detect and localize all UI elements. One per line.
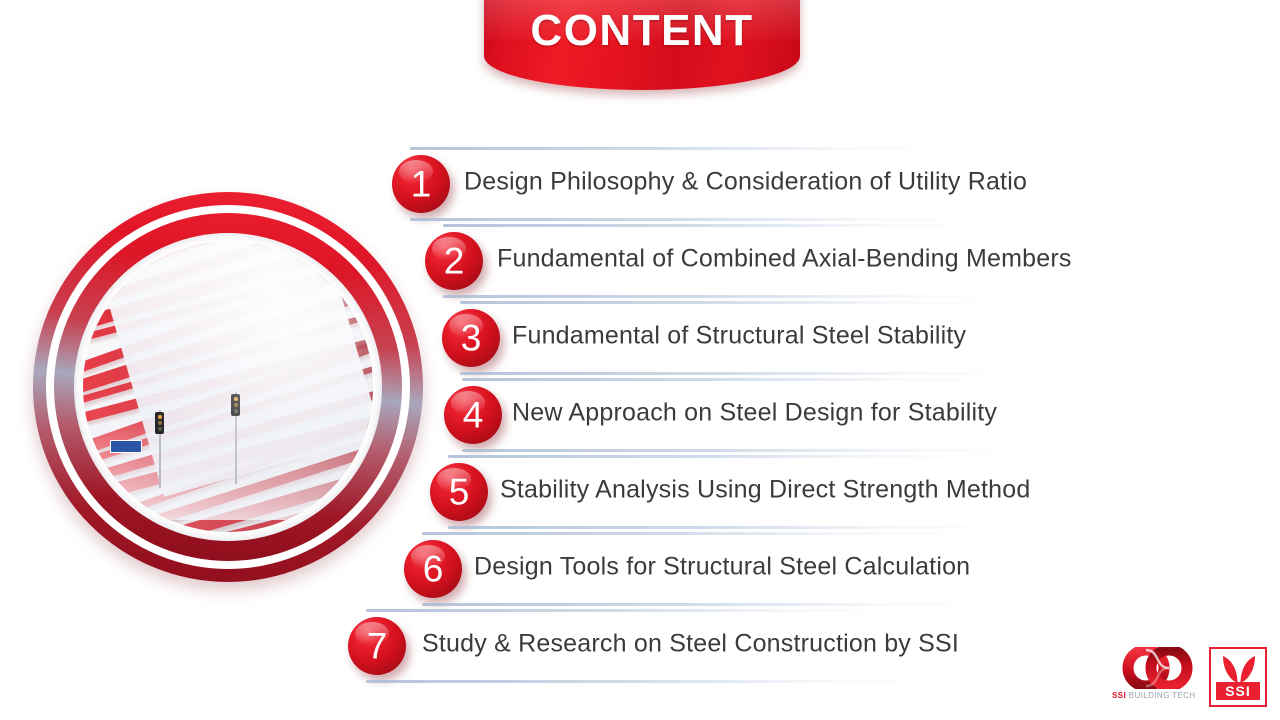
ssi-swirl-icon xyxy=(1122,647,1194,689)
item-number-badge[interactable]: 1 xyxy=(392,155,450,213)
item-number: 1 xyxy=(392,166,450,203)
item-number: 6 xyxy=(404,551,462,588)
logo-building-tech-text: SSI BUILDING TECH xyxy=(1112,691,1204,700)
list-item[interactable]: 3 Fundamental of Structural Steel Stabil… xyxy=(442,297,1102,375)
item-number-badge[interactable]: 6 xyxy=(404,540,462,598)
list-item[interactable]: 1 Design Philosophy & Consideration of U… xyxy=(392,143,1052,221)
logo-area: SSI BUILDING TECH SSI xyxy=(1112,645,1272,715)
item-number: 5 xyxy=(430,474,488,511)
item-number: 7 xyxy=(348,628,406,665)
content-list: 1 Design Philosophy & Consideration of U… xyxy=(0,0,1280,720)
item-label: Study & Research on Steel Construction b… xyxy=(422,630,959,659)
item-number-badge[interactable]: 4 xyxy=(444,386,502,444)
item-number: 4 xyxy=(444,397,502,434)
item-number-badge[interactable]: 3 xyxy=(442,309,500,367)
item-label: Design Philosophy & Consideration of Uti… xyxy=(464,168,1027,197)
item-label: New Approach on Steel Design for Stabili… xyxy=(512,399,997,428)
item-label: Fundamental of Combined Axial-Bending Me… xyxy=(497,245,1072,274)
item-divider-top xyxy=(410,147,940,150)
item-number: 2 xyxy=(425,243,483,280)
logo-ssi-boxed: SSI xyxy=(1209,647,1267,707)
list-item[interactable]: 6 Design Tools for Structural Steel Calc… xyxy=(404,528,1064,606)
list-item[interactable]: 7 Study & Research on Steel Construction… xyxy=(348,605,1008,683)
item-divider-top xyxy=(422,532,952,535)
ssi-leaf-icon xyxy=(1220,654,1258,684)
item-divider-top xyxy=(448,455,978,458)
item-number-badge[interactable]: 7 xyxy=(348,617,406,675)
list-item[interactable]: 2 Fundamental of Combined Axial-Bending … xyxy=(425,220,1085,298)
item-label: Stability Analysis Using Direct Strength… xyxy=(500,476,1030,505)
item-divider-top xyxy=(443,224,973,227)
item-label: Fundamental of Structural Steel Stabilit… xyxy=(512,322,966,351)
list-item[interactable]: 4 New Approach on Steel Design for Stabi… xyxy=(444,374,1104,452)
item-divider-bottom xyxy=(366,680,926,683)
item-number-badge[interactable]: 2 xyxy=(425,232,483,290)
item-label: Design Tools for Structural Steel Calcul… xyxy=(474,553,970,582)
logo-brand-suffix: BUILDING TECH xyxy=(1126,691,1195,700)
item-number: 3 xyxy=(442,320,500,357)
item-divider-top xyxy=(462,378,992,381)
list-item[interactable]: 5 Stability Analysis Using Direct Streng… xyxy=(430,451,1090,529)
logo-ssi-building-tech: SSI BUILDING TECH xyxy=(1112,645,1204,709)
logo-brand-ssi: SSI xyxy=(1112,691,1126,700)
item-number-badge[interactable]: 5 xyxy=(430,463,488,521)
item-divider-top xyxy=(366,609,896,612)
item-divider-top xyxy=(460,301,990,304)
logo-ssi-label: SSI xyxy=(1216,682,1260,700)
